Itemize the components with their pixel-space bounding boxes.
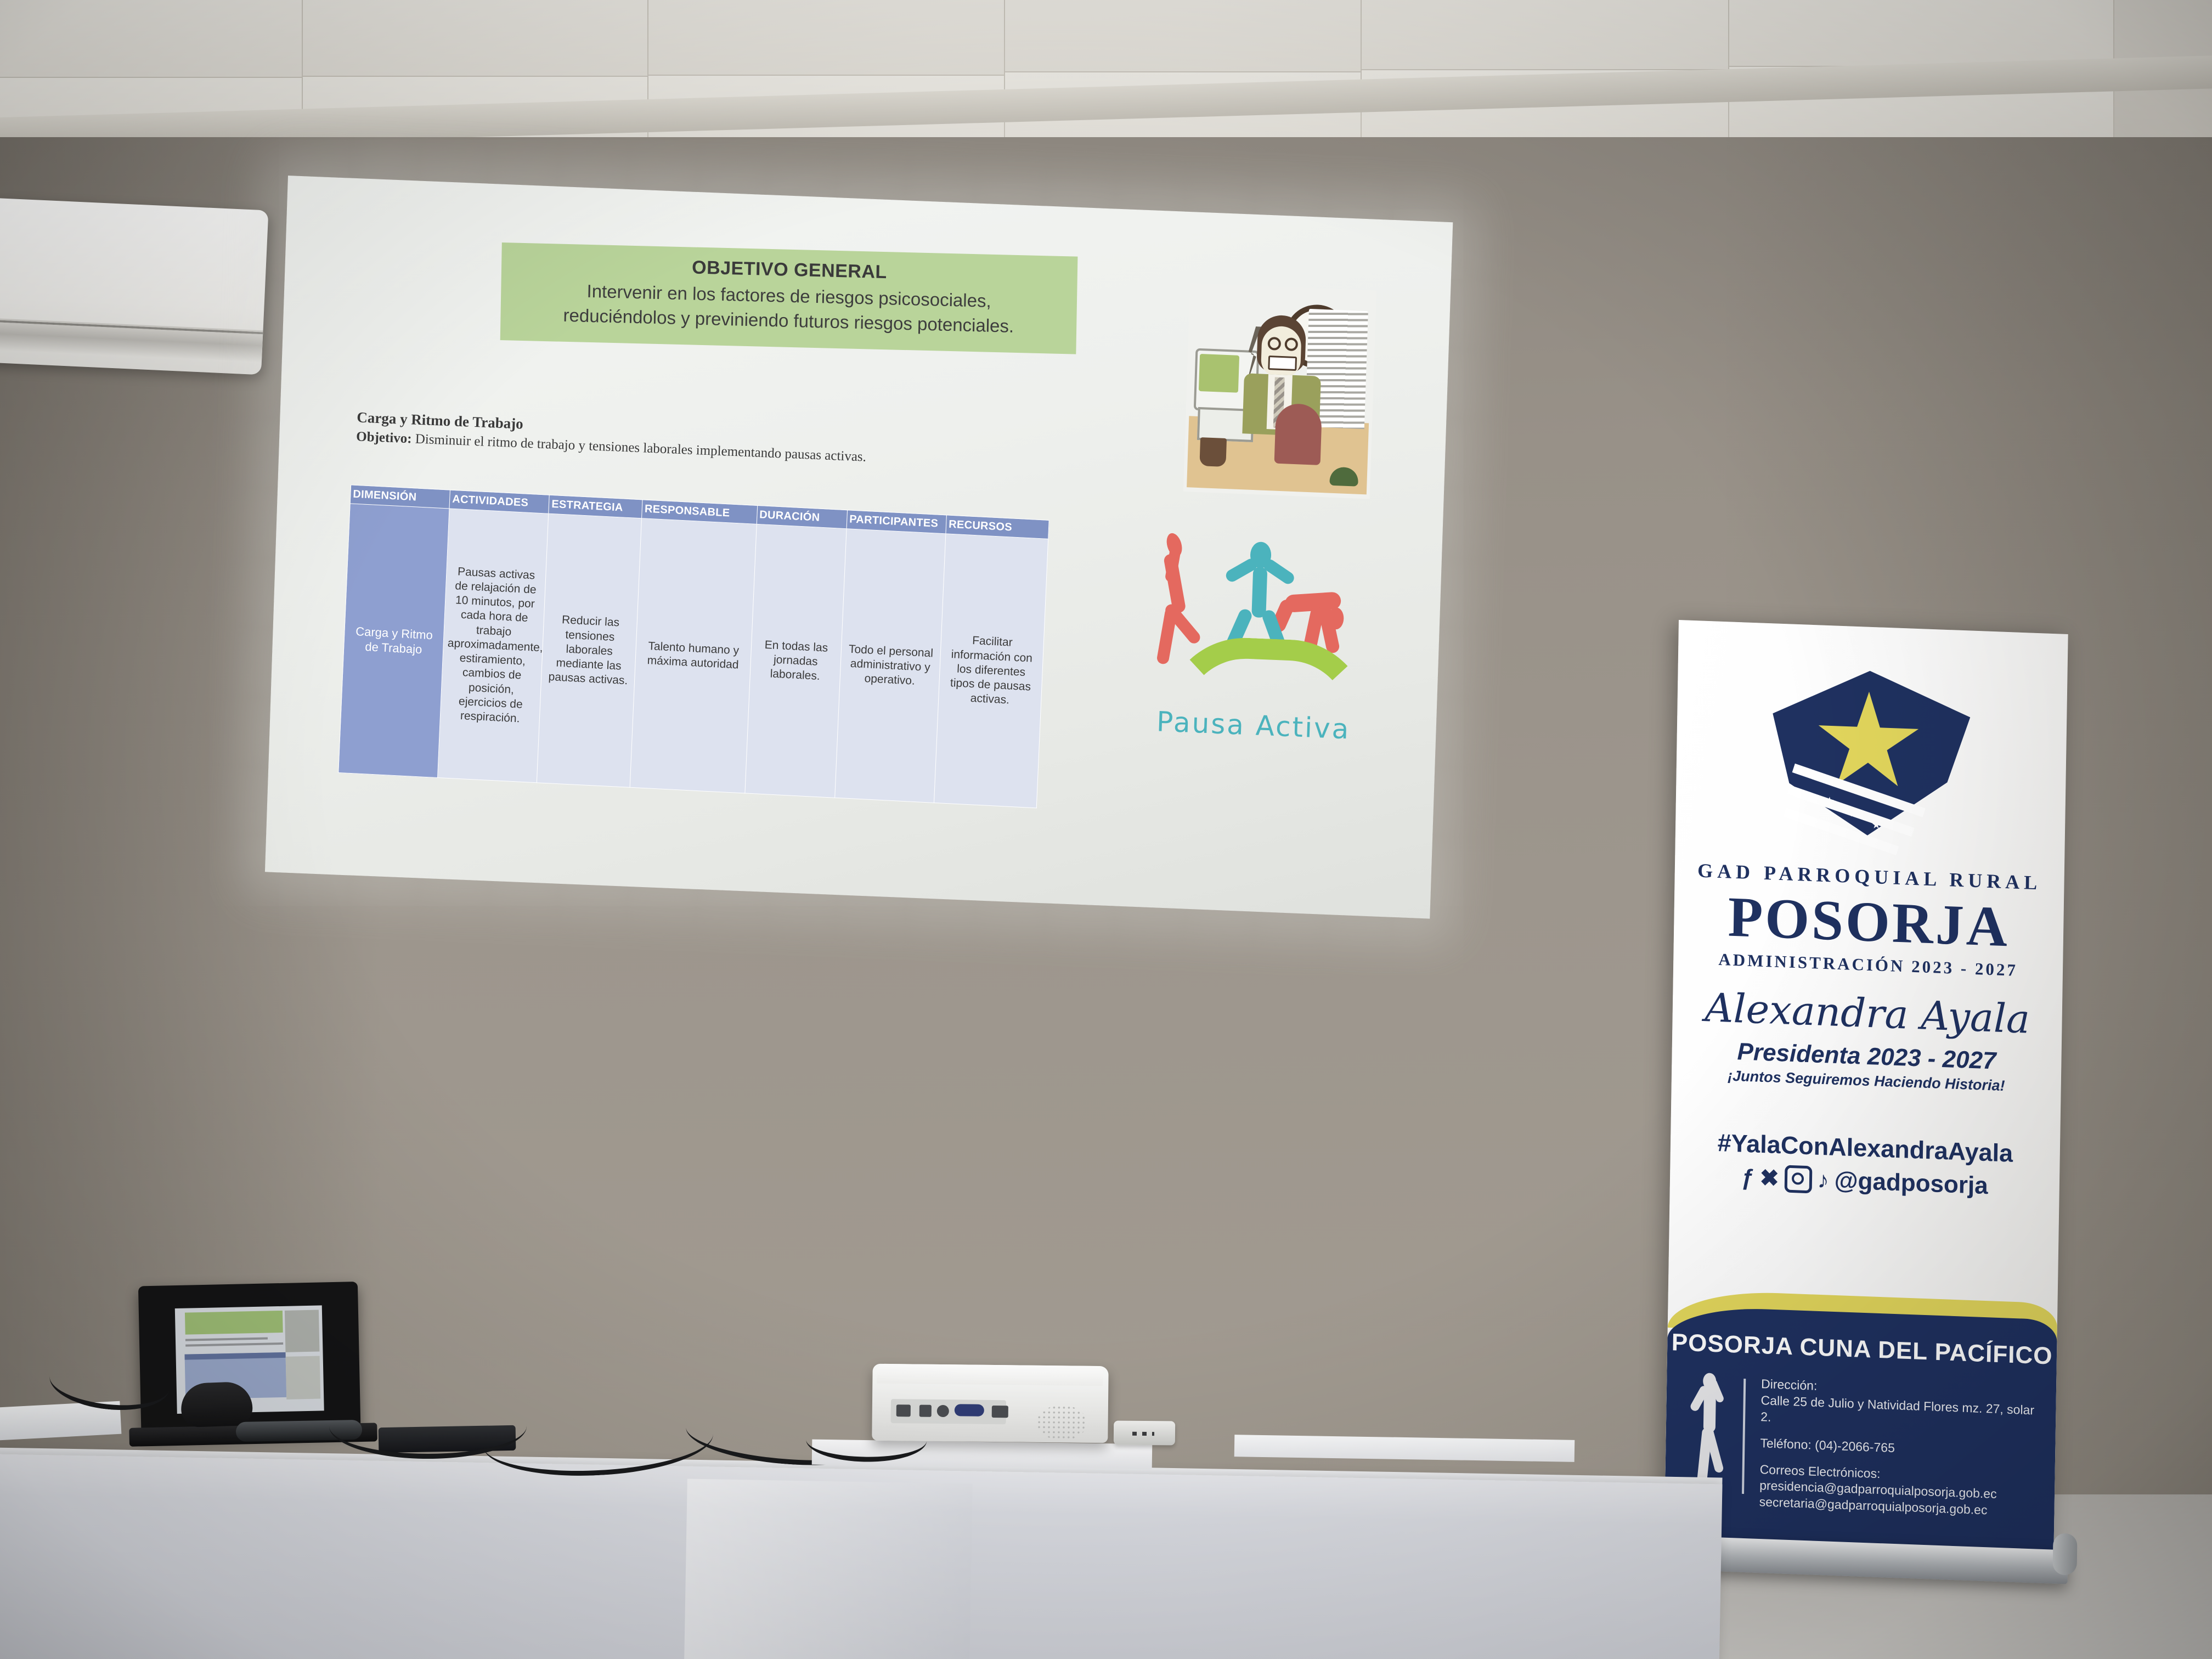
projector-rca-port: [937, 1405, 949, 1417]
computer-mouse[interactable]: [180, 1381, 253, 1427]
presentation-slide: OBJETIVO GENERAL Intervenir en los facto…: [265, 176, 1453, 919]
cell-estrategia: Reducir las tensiones laborales mediante…: [537, 513, 642, 787]
banner-footer-panel: POSORJA CUNA DEL PACÍFICO Dirección: Cal…: [1664, 1306, 2057, 1567]
contact-phone: Teléfono: (04)-2066-765: [1760, 1435, 2040, 1462]
x-twitter-icon: ✖: [1759, 1166, 1779, 1190]
section-objective-label: Objetivo:: [356, 429, 412, 446]
projection-screen: OBJETIVO GENERAL Intervenir en los facto…: [265, 176, 1453, 919]
projector-remote[interactable]: [1114, 1421, 1175, 1446]
facebook-icon: ƒ: [1741, 1166, 1754, 1189]
banner-contact-divider: [1742, 1379, 1746, 1494]
projector-power-port: [896, 1404, 911, 1417]
rollup-banner: GAD PARROQUIAL RURAL POSORJA ADMINISTRAC…: [1664, 620, 2068, 1567]
cell-participantes: Todo el personal administrativo y operat…: [835, 529, 946, 803]
projector-top-cover: [877, 1364, 1103, 1386]
table-row: Carga y Ritmo de Trabajo Pausas activas …: [338, 504, 1048, 808]
pausa-activa-arc: [1162, 635, 1373, 772]
ac-vent: [0, 319, 263, 363]
projector-hdmi-port: [992, 1406, 1008, 1418]
projector-vga-port: [955, 1404, 984, 1417]
banner-contact-block: Dirección: Calle 25 de Julio y Natividad…: [1759, 1376, 2041, 1531]
tablecloth-fold: [684, 1479, 973, 1659]
instagram-icon: [1784, 1165, 1812, 1194]
conference-room-photo: OBJETIVO GENERAL Intervenir en los facto…: [0, 0, 2212, 1659]
pausa-activa-logo: Pausa Activa: [1142, 528, 1368, 757]
contact-phone-value: (04)-2066-765: [1815, 1437, 1895, 1454]
posorja-crest-logo: [1757, 667, 1979, 861]
banner-tagline: POSORJA CUNA DEL PACÍFICO: [1667, 1329, 2057, 1370]
objective-box: OBJETIVO GENERAL Intervenir en los facto…: [500, 242, 1078, 354]
tiktok-icon: ♪: [1817, 1169, 1829, 1192]
cell-duracion: En todas las jornadas laborales.: [745, 524, 847, 798]
banner-social-handle: @gadposorja: [1834, 1167, 1988, 1200]
banner-president-name: Alexandra Ayala: [1672, 983, 2062, 1043]
dancer-silhouette-icon: [1691, 1373, 1731, 1489]
air-conditioner: [0, 198, 268, 375]
cell-recursos: Facilitar información con los diferentes…: [934, 534, 1048, 808]
cell-responsable: Talento humano y máxima autoridad: [630, 518, 757, 793]
section-block: Carga y Ritmo de Trabajo Objetivo: Dismi…: [356, 409, 1015, 471]
projector[interactable]: [872, 1354, 1114, 1450]
projector-usb-port: [919, 1405, 932, 1417]
banner-base-endcap: [2052, 1533, 2077, 1576]
contact-phone-label: Teléfono:: [1760, 1436, 1812, 1452]
projector-speaker-grille: [1036, 1405, 1087, 1441]
cell-actividades: Pausas activas de relajación de 10 minut…: [438, 509, 549, 783]
stressed-worker-icon: [1183, 283, 1376, 499]
plan-table: DIMENSIÓN ACTIVIDADES ESTRATEGIA RESPONS…: [338, 484, 1049, 808]
cell-dimension: Carga y Ritmo de Trabajo: [338, 504, 449, 778]
